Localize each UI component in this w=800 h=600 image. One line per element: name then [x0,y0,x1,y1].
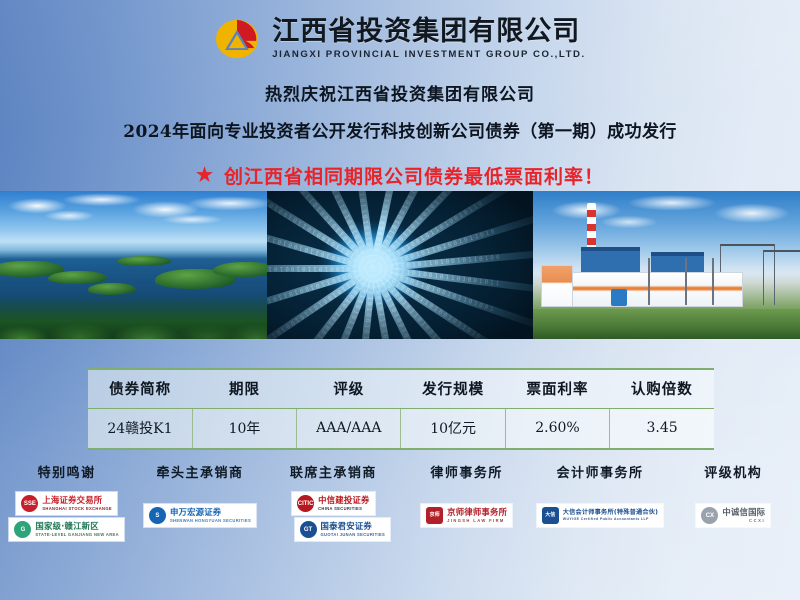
logo-name-en: SHENWAN HONGYUAN SECURITIES [170,519,251,523]
logo-name-cn: 国泰君安证券 [321,522,386,531]
partner-logo-stack: CITIC 中信建投证券 CHINA SECURITIES GT 国泰君安证券 … [277,492,391,541]
jingsh-law-firm-logo: 京师 京师律师事务所 JINGSH LAW FIRM [421,504,512,527]
utility-pole [712,258,714,305]
island-shape [48,271,107,284]
partner-group-special-thanks: 特别鸣谢 SSE 上海证券交易所 SHANGHAI STOCK EXCHANGE… [0,462,133,562]
logo-text: 京师律师事务所 JINGSH LAW FIRM [447,508,507,523]
shenwan-hongyuan-securities-logo: S 申万宏源证券 SHENWAN HONGYUAN SECURITIES [144,504,256,527]
brand-name-block: 江西省投资集团有限公司 JIANGXI PROVINCIAL INVESTMEN… [272,18,585,60]
lake-islands-photo [0,191,267,339]
headline-line-3: 创江西省相同期限公司债券最低票面利率！ [224,162,604,189]
partner-group-joint-underwriters: 联席主承销商 CITIC 中信建投证券 CHINA SECURITIES GT … [267,462,400,562]
partner-logo-stack: CX 中诚信国际 CCXI [696,492,770,527]
table-cell-bond-name: 24赣投K1 [88,409,192,450]
logo-name-en: STATE-LEVEL GANJIANG NEW AREA [35,533,118,537]
bond-summary-table-wrap: 债券简称 期限 评级 发行规模 票面利率 认购倍数 24赣投K1 10年 AAA… [88,368,714,450]
logo-text: 国泰君安证券 GUOTAI JUNAN SECURITIES [321,522,386,537]
table-cell-rating: AAA/AAA [297,409,401,450]
table-body: 24赣投K1 10年 AAA/AAA 10亿元 2.60% 3.45 [88,409,714,450]
shenwan-badge-icon: S [149,507,166,524]
table-cell-term: 10年 [192,409,296,450]
transmission-pylon [763,250,800,305]
partner-group-title: 牵头主承销商 [156,462,243,481]
partners-section: 特别鸣谢 SSE 上海证券交易所 SHANGHAI STOCK EXCHANGE… [0,462,800,562]
partner-group-title: 律师事务所 [430,462,503,481]
logo-text: 申万宏源证券 SHENWAN HONGYUAN SECURITIES [170,508,251,523]
ground-lawn [533,309,800,339]
partner-logo-stack: 京师 京师律师事务所 JINGSH LAW FIRM [421,492,512,527]
plant-annex [541,265,572,307]
table-header-cell: 认购倍数 [610,369,714,409]
table-head: 债券简称 期限 评级 发行规模 票面利率 认购倍数 [88,369,714,409]
partner-group-accounting-firm: 会计师事务所 大信 大信会计师事务所(特殊普通合伙) WUYIGE Certif… [533,462,666,562]
headline-line-3-wrap: ★ 创江西省相同期限公司债券最低票面利率！ [0,162,800,189]
storage-tank [611,289,627,307]
table-header-cell: 评级 [297,369,401,409]
jingsh-seal-icon: 京师 [426,507,443,524]
utility-pole [648,258,650,305]
headline-line-2: 2024年面向专业投资者公开发行科技创新公司债券（第一期）成功发行 [0,117,800,142]
citic-badge-icon: CITIC [297,495,314,512]
partner-group-title: 联席主承销商 [290,462,377,481]
partner-group-title: 特别鸣谢 [38,462,96,481]
utility-pole [685,258,687,305]
island-shape [88,283,136,295]
bond-summary-table: 债券简称 期限 评级 发行规模 票面利率 认购倍数 24赣投K1 10年 AAA… [88,368,714,450]
partner-group-title: 会计师事务所 [556,462,643,481]
partner-group-lead-underwriter: 牵头主承销商 S 申万宏源证券 SHENWAN HONGYUAN SECURIT… [133,462,266,562]
logo-name-cn: 大信会计师事务所(特殊普通合伙) [563,510,658,517]
sse-badge-icon: SSE [21,495,38,512]
poster-canvas: 江西省投资集团有限公司 JIANGXI PROVINCIAL INVESTMEN… [0,0,800,600]
logo-name-en: SHANGHAI STOCK EXCHANGE [42,507,112,511]
logo-text: 中信建投证券 CHINA SECURITIES [318,496,369,511]
binary-data-tunnel-photo: 10110100101101001011010 0100101101001011… [267,191,534,339]
logo-text: 上海证券交易所 SHANGHAI STOCK EXCHANGE [42,496,112,511]
logo-name-en: JINGSH LAW FIRM [447,519,507,523]
logo-name-cn: 申万宏源证券 [170,508,251,517]
ganjiang-new-area-logo: G 国家级·赣江新区 STATE-LEVEL GANJIANG NEW AREA [9,518,123,541]
power-plant-photo [533,191,800,339]
brand-name-cn: 江西省投资集团有限公司 [272,18,585,45]
partner-group-title: 评级机构 [704,462,762,481]
logo-name-en: CHINA SECURITIES [318,507,369,511]
partner-group-rating-agency: 评级机构 CX 中诚信国际 CCXI [667,462,800,562]
table-row: 24赣投K1 10年 AAA/AAA 10亿元 2.60% 3.45 [88,409,714,450]
photo-strip: 10110100101101001011010 0100101101001011… [0,191,800,339]
table-cell-subscription-multiple: 3.45 [610,409,714,450]
wuyige-cpa-logo: 大信 大信会计师事务所(特殊普通合伙) WUYIGE Certified Pub… [537,504,663,527]
guotai-junan-badge-icon: GT [300,521,317,538]
china-securities-logo: CITIC 中信建投证券 CHINA SECURITIES [292,492,374,515]
logo-name-cn: 中信建投证券 [318,496,369,505]
star-icon: ★ [196,166,214,185]
island-shape [117,256,170,266]
logo-name-cn: 中诚信国际 [722,508,765,517]
guotai-junan-securities-logo: GT 国泰君安证券 GUOTAI JUNAN SECURITIES [295,518,391,541]
headline-line-1: 热烈庆祝江西省投资集团有限公司 [0,80,800,105]
brand-header: 江西省投资集团有限公司 JIANGXI PROVINCIAL INVESTMEN… [0,0,800,72]
shanghai-stock-exchange-logo: SSE 上海证券交易所 SHANGHAI STOCK EXCHANGE [16,492,117,515]
cloud-layer [0,191,267,253]
table-header-cell: 期限 [192,369,296,409]
wuyige-badge-icon: 大信 [542,507,559,524]
table-header-cell: 债券简称 [88,369,192,409]
table-header-cell: 票面利率 [505,369,609,409]
partner-logo-stack: S 申万宏源证券 SHENWAN HONGYUAN SECURITIES [144,492,256,527]
logo-name-en: CCXI [722,519,765,523]
partner-logo-stack: 大信 大信会计师事务所(特殊普通合伙) WUYIGE Certified Pub… [537,492,663,527]
logo-name-en: GUOTAI JUNAN SECURITIES [321,533,386,537]
vignette-layer [267,191,534,339]
table-header-row: 债券简称 期限 评级 发行规模 票面利率 认购倍数 [88,369,714,409]
logo-text: 大信会计师事务所(特殊普通合伙) WUYIGE Certified Public… [563,510,658,522]
logo-text: 国家级·赣江新区 STATE-LEVEL GANJIANG NEW AREA [35,522,118,537]
partner-group-law-firm: 律师事务所 京师 京师律师事务所 JINGSH LAW FIRM [400,462,533,562]
brand-name-en: JIANGXI PROVINCIAL INVESTMENT GROUP CO.,… [272,50,585,60]
logo-name-en: WUYIGE Certified Public Accountants LLP [563,518,658,522]
jiangxi-investment-group-logo-icon [214,18,260,60]
logo-name-cn: 京师律师事务所 [447,508,507,517]
logo-name-cn: 国家级·赣江新区 [35,522,118,531]
island-shape [213,262,266,277]
partner-logo-stack: SSE 上海证券交易所 SHANGHAI STOCK EXCHANGE G 国家… [9,492,123,541]
ccxi-badge-icon: CX [701,507,718,524]
logo-name-cn: 上海证券交易所 [42,496,112,505]
ccxi-logo: CX 中诚信国际 CCXI [696,504,770,527]
ganjiang-badge-icon: G [14,521,31,538]
table-cell-coupon-rate: 2.60% [505,409,609,450]
table-header-cell: 发行规模 [401,369,505,409]
table-cell-issue-size: 10亿元 [401,409,505,450]
logo-text: 中诚信国际 CCXI [722,508,765,523]
headline-block: 热烈庆祝江西省投资集团有限公司 2024年面向专业投资者公开发行科技创新公司债券… [0,72,800,189]
foreground-trees [0,295,267,339]
